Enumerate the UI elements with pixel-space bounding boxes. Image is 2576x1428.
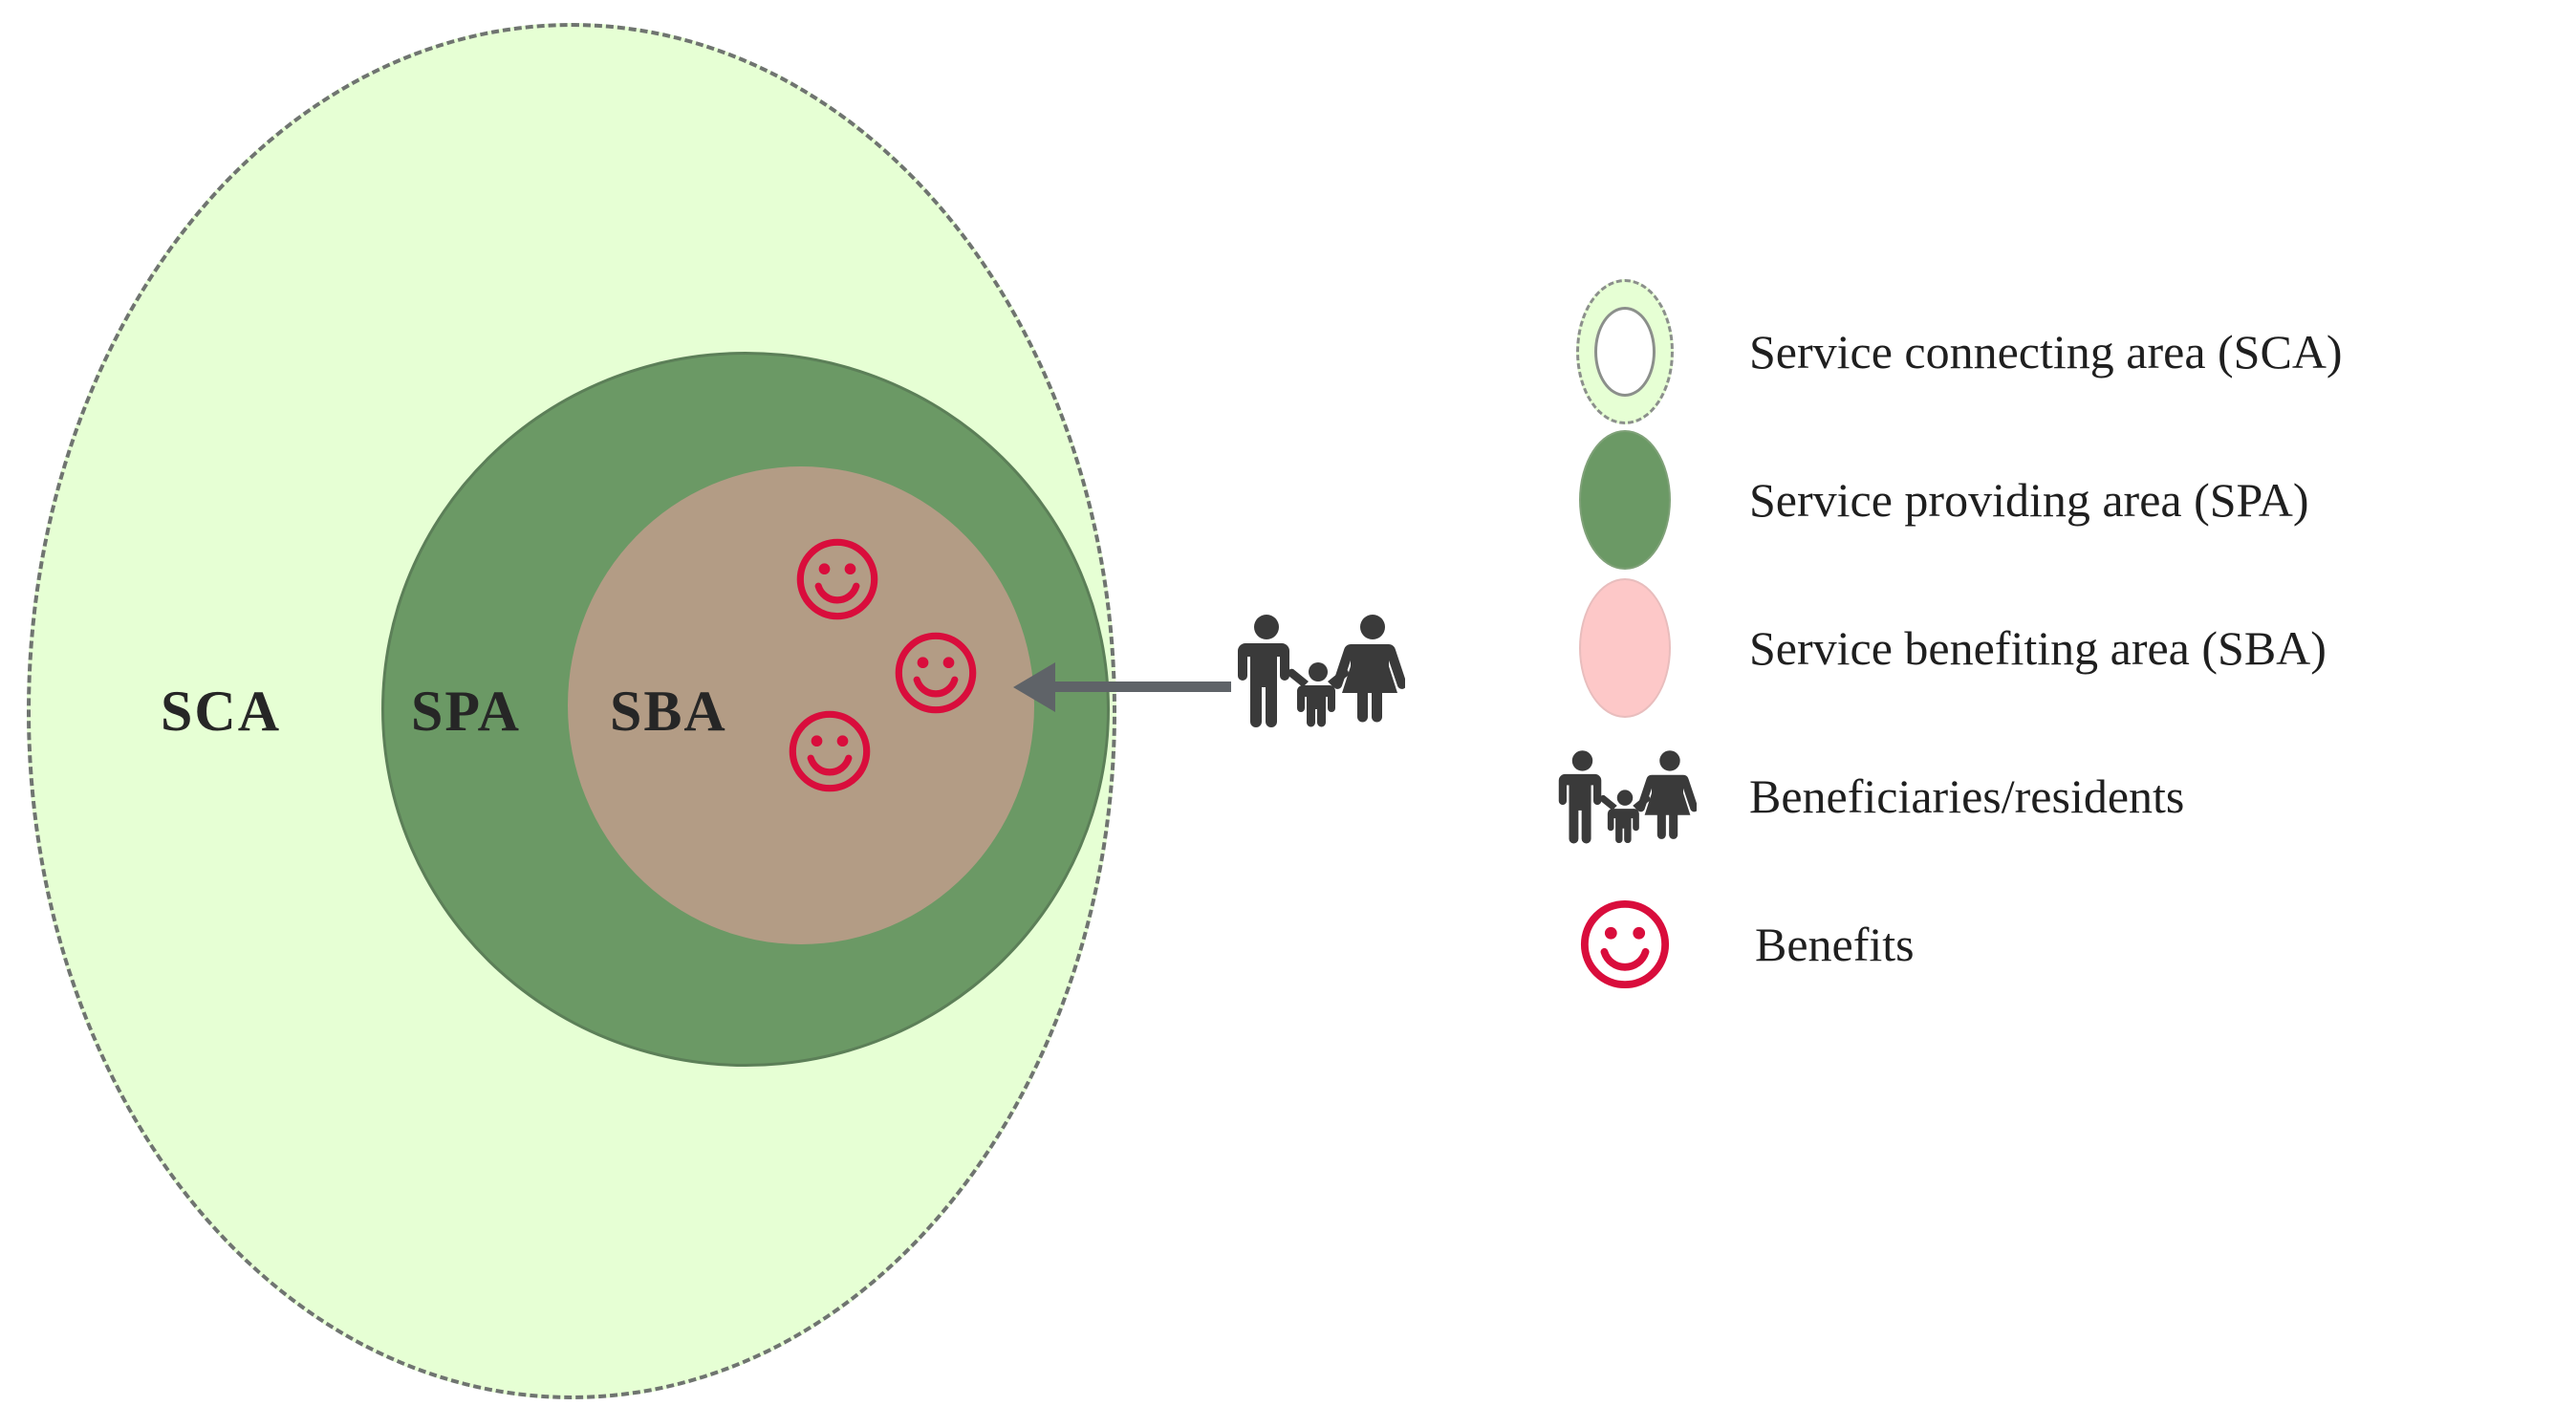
spa-label: SPA <box>411 682 521 740</box>
legend-label-spa: Service providing area (SPA) <box>1701 476 2309 524</box>
legend-swatch-sca <box>1548 280 1701 423</box>
family-people-icon <box>1553 740 1697 853</box>
filled-ellipse-swatch-green <box>1579 430 1671 570</box>
family-people-icon <box>1231 613 1405 727</box>
legend-label-sca: Service connecting area (SCA) <box>1701 328 2343 376</box>
smiley-face-icon <box>893 630 979 716</box>
smiley-face-icon <box>1578 898 1672 991</box>
legend-item-sba: Service benefiting area (SBA) <box>1548 573 2576 722</box>
sba-label: SBA <box>610 682 727 740</box>
sca-label: SCA <box>161 682 281 740</box>
legend-swatch-beneficiaries <box>1548 725 1701 868</box>
legend-swatch-spa <box>1548 428 1701 572</box>
legend-item-beneficiaries: Beneficiaries/residents <box>1548 722 2576 870</box>
legend-item-spa: Service providing area (SPA) <box>1548 425 2576 573</box>
concentric-area-diagram: SCA SPA SBA <box>0 0 1491 1428</box>
dashed-ring-swatch-center <box>1594 307 1656 397</box>
smiley-face-icon <box>794 536 880 622</box>
legend-item-benefits: Benefits <box>1548 870 2576 1018</box>
legend-label-sba: Service benefiting area (SBA) <box>1701 624 2327 672</box>
legend: Service connecting area (SCA) Service pr… <box>1548 277 2576 1018</box>
arrow-left-icon <box>1013 654 1231 721</box>
legend-swatch-benefits <box>1548 873 1701 1016</box>
filled-ellipse-swatch-pink <box>1579 578 1671 718</box>
legend-label-beneficiaries: Beneficiaries/residents <box>1701 772 2184 820</box>
diagram-canvas: SCA SPA SBA <box>0 0 2576 1428</box>
dashed-ring-swatch <box>1576 279 1674 424</box>
legend-label-benefits: Benefits <box>1701 920 1915 968</box>
smiley-face-icon <box>787 708 873 794</box>
legend-item-sca: Service connecting area (SCA) <box>1548 277 2576 425</box>
legend-swatch-sba <box>1548 576 1701 720</box>
